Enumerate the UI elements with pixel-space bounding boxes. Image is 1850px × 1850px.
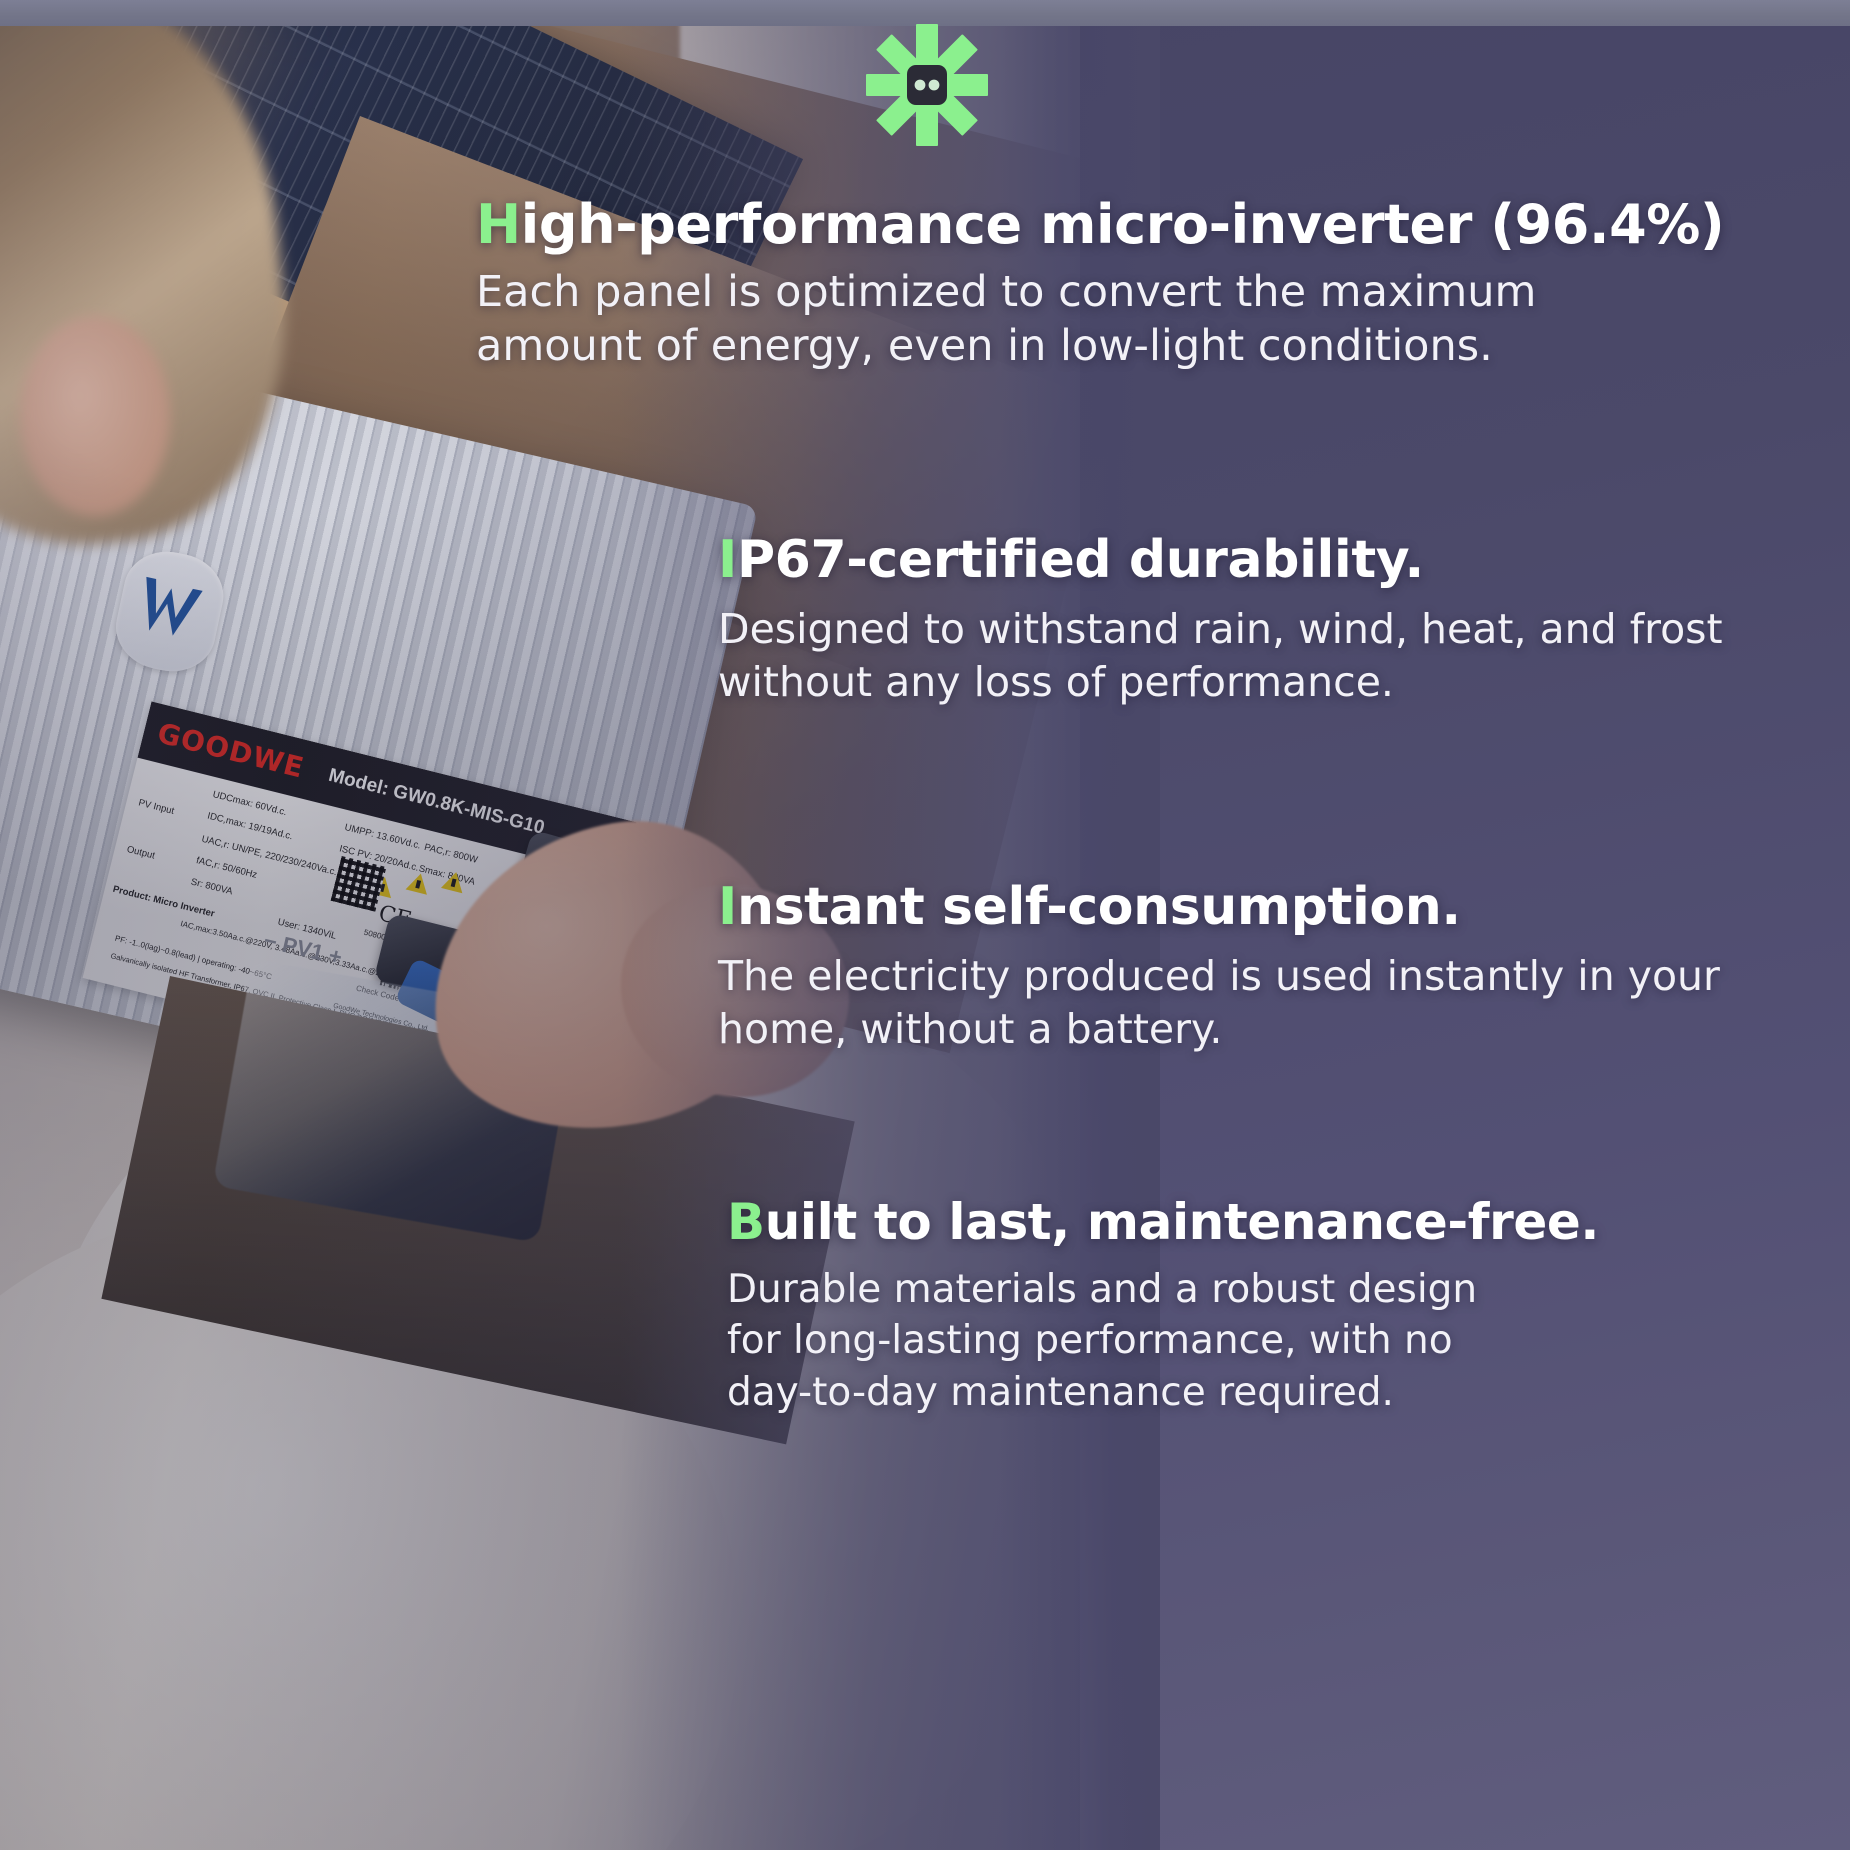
feature-4-cap: B	[727, 1193, 765, 1251]
feature-block-2: IP67-certified durability. Designed to w…	[718, 533, 1818, 710]
feature-3-heading: Instant self-consumption.	[718, 880, 1828, 934]
feature-3-body: The electricity produced is used instant…	[718, 950, 1828, 1057]
feature-2-heading-rest: P67-certified durability.	[737, 530, 1424, 590]
feature-2-body: Designed to withstand rain, wind, heat, …	[718, 603, 1818, 710]
feature-1-heading-rest: igh-performance micro-inverter (96.4%)	[521, 193, 1724, 256]
feature-4-heading-rest: uilt to last, maintenance-free.	[765, 1193, 1599, 1251]
feature-block-3: Instant self-consumption. The electricit…	[718, 880, 1828, 1057]
feature-1-body: Each panel is optimized to convert the m…	[476, 265, 1546, 373]
brand-logo[interactable]	[862, 22, 992, 148]
feature-2-cap: I	[718, 530, 737, 590]
feature-4-heading: Built to last, maintenance-free.	[727, 1196, 1787, 1248]
promo-graphic: GOODWE Model: GW0.8K-MIS-G10 Product: Mi…	[0, 0, 1850, 1850]
feature-3-heading-rest: nstant self-consumption.	[737, 877, 1461, 937]
feature-block-1: High-performance micro-inverter (96.4%) …	[476, 197, 1816, 374]
feature-2-heading: IP67-certified durability.	[718, 533, 1818, 587]
feature-block-4: Built to last, maintenance-free. Durable…	[727, 1196, 1787, 1418]
feature-1-heading: High-performance micro-inverter (96.4%)	[476, 197, 1816, 253]
feature-3-cap: I	[718, 877, 737, 937]
feature-4-body: Durable materials and a robust design fo…	[727, 1264, 1487, 1418]
feature-1-cap: H	[476, 193, 521, 256]
green-sunburst-socket-logo-icon	[862, 22, 992, 148]
